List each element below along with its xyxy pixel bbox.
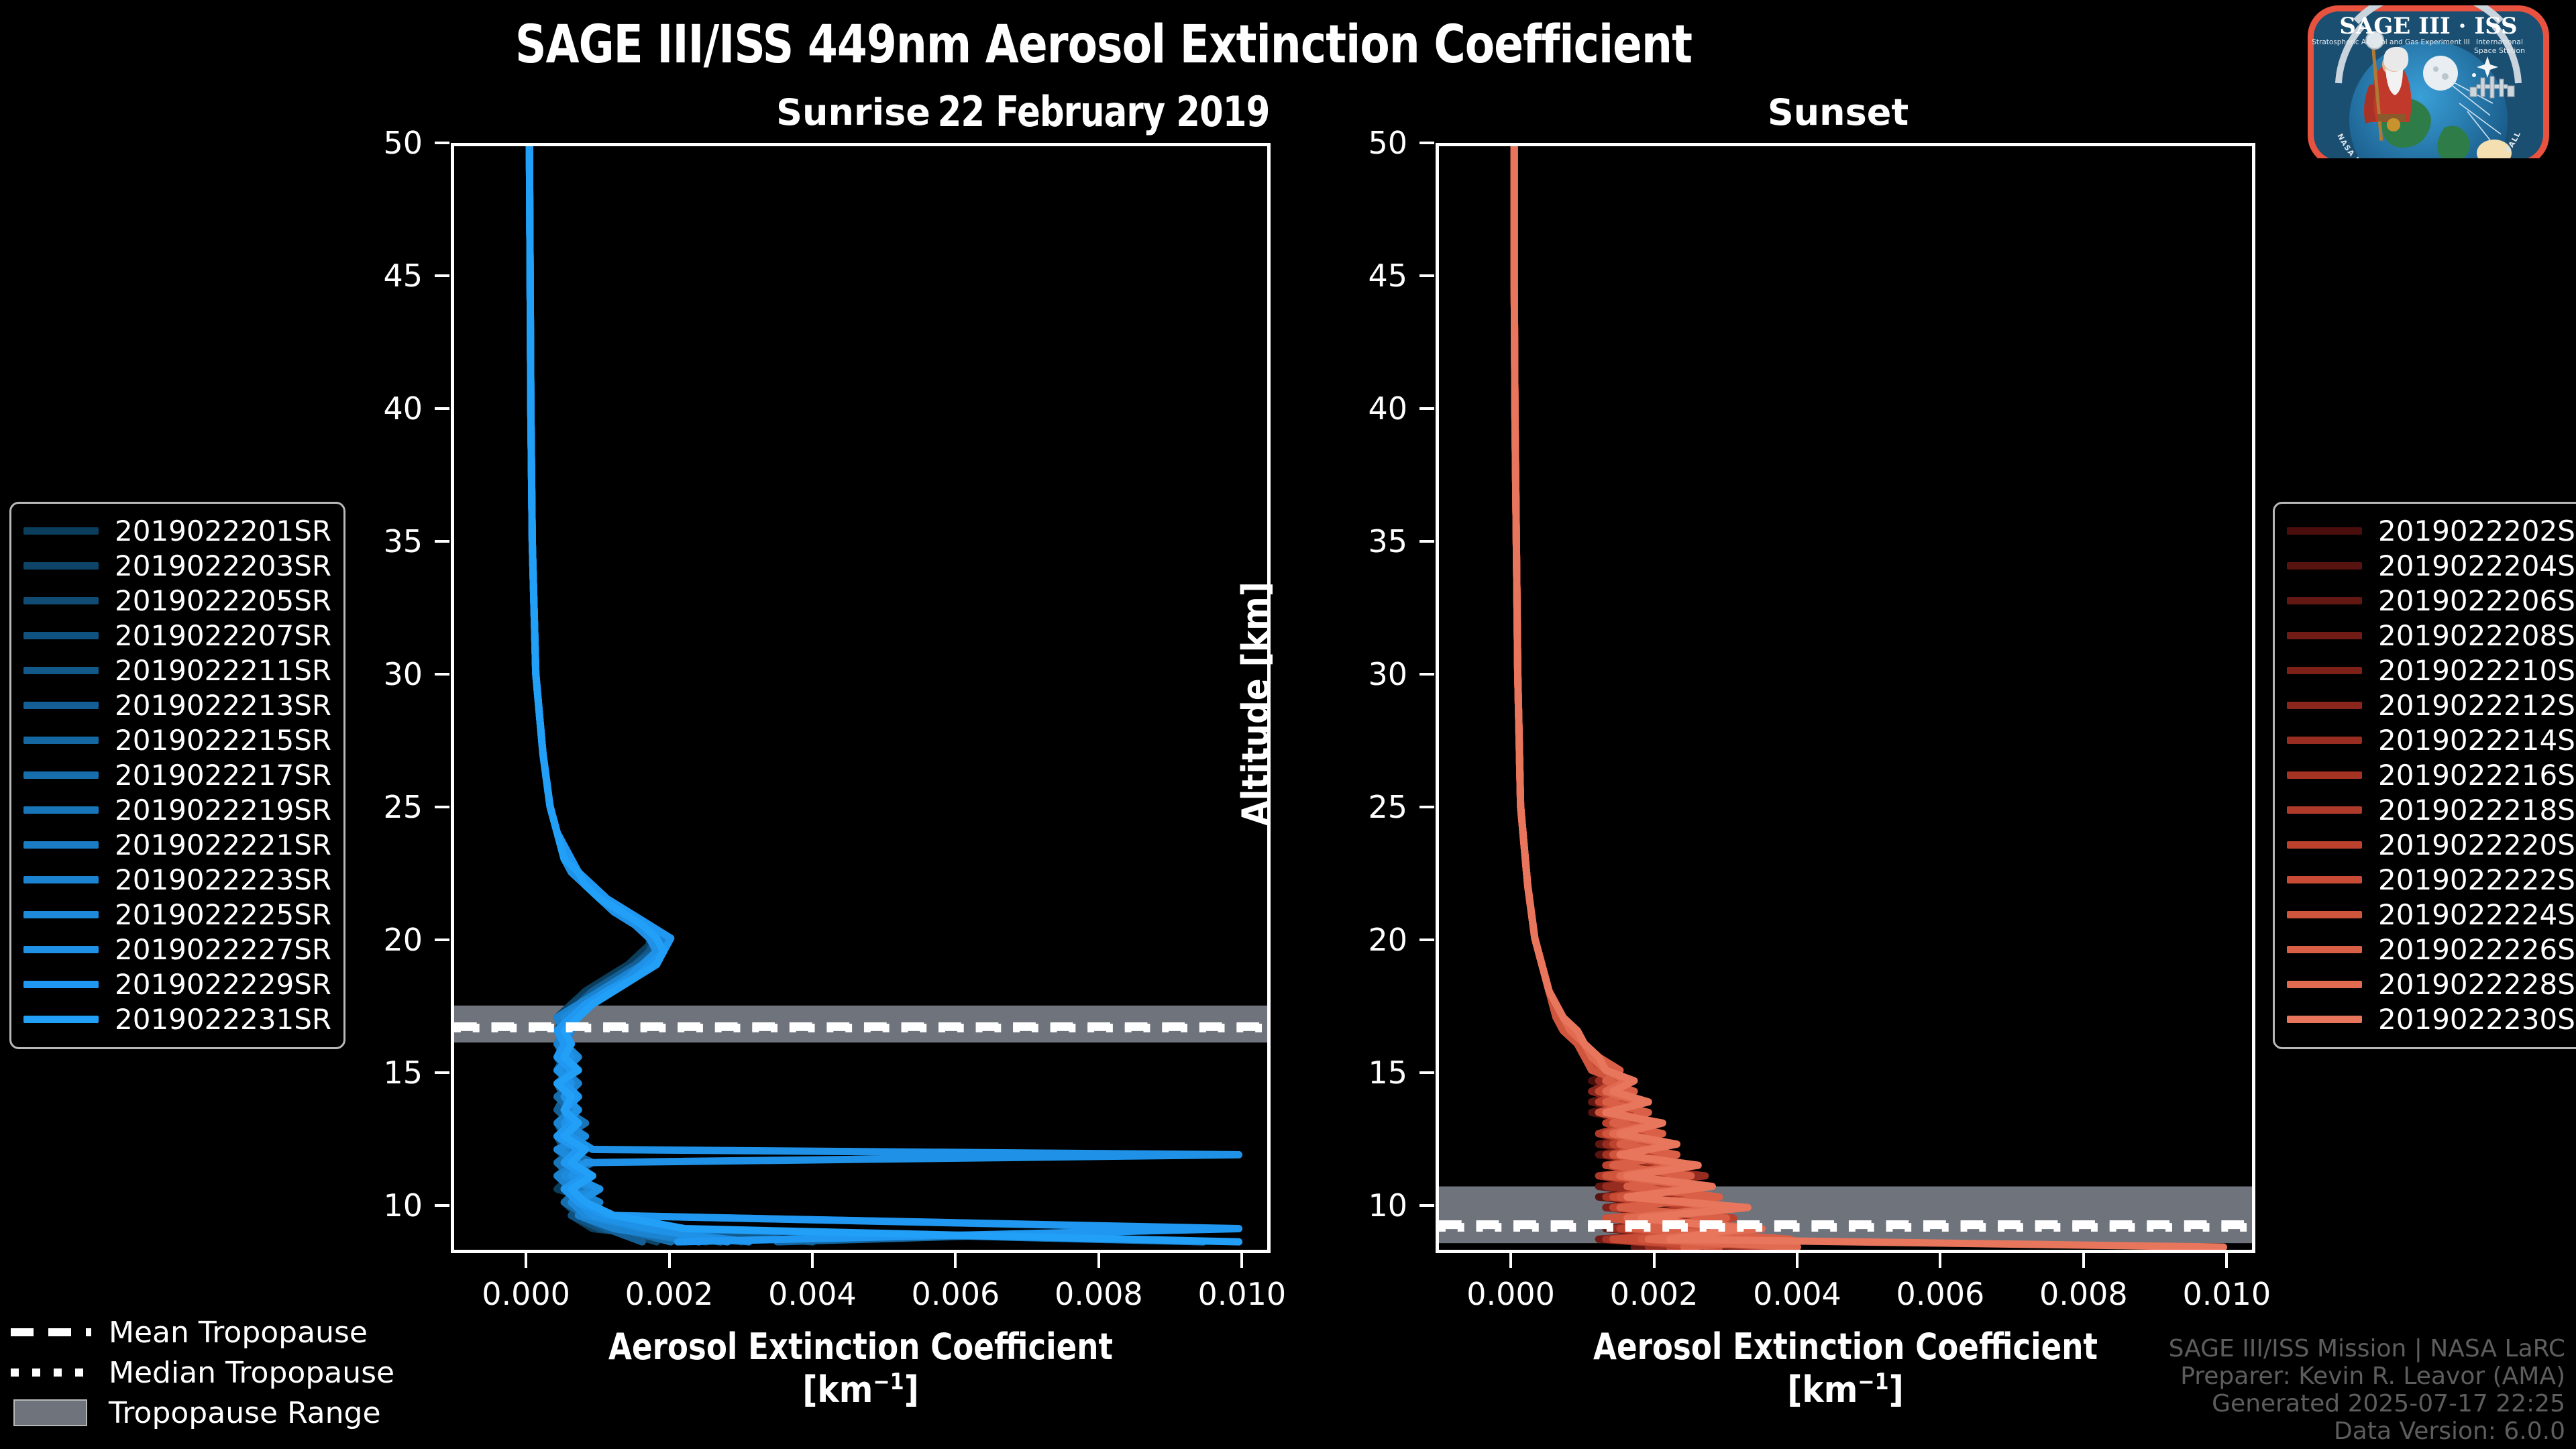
- profile-trace: [529, 146, 699, 1242]
- legend-item-label: 2019022224SS: [2378, 898, 2576, 931]
- tropopause-legend-label: Mean Tropopause: [109, 1316, 368, 1350]
- legend-item[interactable]: 2019022210SS: [2287, 653, 2576, 688]
- x-axis-tick: [1240, 1253, 1243, 1268]
- y-axis-tick: [435, 1204, 449, 1207]
- legend-color-swatch: [23, 946, 99, 953]
- legend-color-swatch: [23, 597, 99, 604]
- tropopause-range-swatch: [11, 1403, 91, 1423]
- legend-item[interactable]: 2019022223SR: [23, 862, 331, 897]
- y-axis-tick: [435, 540, 449, 543]
- legend-item-label: 2019022213SR: [115, 689, 331, 722]
- sunrise-profile-legend[interactable]: 2019022201SR2019022203SR2019022205SR2019…: [9, 502, 345, 1049]
- mission-patch-svg: NASA LANGLEY RESEARCH CENTER · ESA · BAL…: [2292, 3, 2565, 158]
- legend-color-swatch: [2287, 771, 2362, 779]
- legend-item-label: 2019022226SS: [2378, 933, 2576, 966]
- legend-item-label: 2019022206SS: [2378, 584, 2576, 617]
- y-axis-tick-label: 10: [275, 1187, 423, 1224]
- legend-item-label: 2019022231SR: [115, 1003, 331, 1036]
- legend-color-swatch: [23, 981, 99, 988]
- legend-color-swatch: [23, 806, 99, 814]
- legend-item[interactable]: 2019022213SR: [23, 688, 331, 722]
- x-axis-tick: [811, 1253, 814, 1268]
- legend-color-swatch: [23, 632, 99, 639]
- tropopause-legend-label: Tropopause Range: [109, 1396, 381, 1430]
- legend-color-swatch: [2287, 841, 2362, 849]
- profile-trace: [1514, 146, 1797, 1247]
- x-axis-tick: [1097, 1253, 1100, 1268]
- y-axis-tick-label: 45: [275, 258, 423, 294]
- x-axis-tick-label: 0.010: [1155, 1276, 1329, 1312]
- y-axis-tick-label: 50: [275, 125, 423, 161]
- y-axis-tick: [1419, 938, 1434, 941]
- credits-line: Generated 2025-07-17 22:25: [2169, 1390, 2565, 1417]
- credits-line: SAGE III/ISS Mission | NASA LaRC: [2169, 1335, 2565, 1362]
- y-axis-tick-label: 10: [1260, 1187, 1407, 1224]
- logo-title: SAGE III · ISS: [2339, 13, 2517, 40]
- legend-item-label: 2019022230SS: [2378, 1003, 2576, 1036]
- legend-item[interactable]: 2019022217SR: [23, 757, 331, 792]
- y-axis-tick: [1419, 673, 1434, 676]
- legend-item-label: 2019022217SR: [115, 759, 331, 792]
- profile-trace: [1514, 146, 1769, 1247]
- logo-subtitle-right-2: Space Station: [2474, 46, 2525, 55]
- legend-color-swatch: [23, 876, 99, 883]
- legend-color-swatch: [2287, 946, 2362, 953]
- legend-color-swatch: [2287, 702, 2362, 709]
- legend-item-label: 2019022216SS: [2378, 759, 2576, 792]
- legend-item[interactable]: 2019022230SS: [2287, 1002, 2576, 1036]
- sunset-plot-panel[interactable]: [1436, 143, 2255, 1253]
- marker-glyph: [11, 1328, 91, 1336]
- tropopause-legend: Mean TropopauseMedian TropopauseTropopau…: [11, 1312, 394, 1433]
- legend-item[interactable]: 2019022226SS: [2287, 932, 2576, 967]
- y-axis-tick: [1419, 407, 1434, 410]
- x-axis-units: [km−1]: [451, 1368, 1271, 1411]
- legend-item-label: 2019022214SS: [2378, 724, 2576, 757]
- x-axis-units: [km−1]: [1436, 1368, 2255, 1411]
- y-axis-tick-label: 15: [1260, 1055, 1407, 1091]
- profile-trace: [529, 146, 656, 1242]
- y-axis-tick: [1419, 1071, 1434, 1074]
- y-axis-tick-label: 45: [1260, 258, 1407, 294]
- x-axis-tick: [1653, 1253, 1656, 1268]
- y-axis-tick: [435, 407, 449, 410]
- x-axis-tick: [525, 1253, 527, 1268]
- credits-block: SAGE III/ISS Mission | NASA LaRCPreparer…: [2169, 1335, 2565, 1445]
- legend-color-swatch: [2287, 632, 2362, 639]
- tropopause-legend-item: Mean Tropopause: [11, 1312, 394, 1352]
- legend-item[interactable]: 2019022208SS: [2287, 618, 2576, 653]
- y-axis-tick: [435, 1071, 449, 1074]
- x-axis-tick: [1796, 1253, 1799, 1268]
- x-axis-tick: [954, 1253, 957, 1268]
- legend-item[interactable]: 2019022227SR: [23, 932, 331, 967]
- legend-item-label: 2019022227SR: [115, 933, 331, 966]
- legend-item-label: 2019022220SS: [2378, 828, 2576, 861]
- legend-color-swatch: [23, 1016, 99, 1023]
- credits-line: Preparer: Kevin R. Leavor (AMA): [2169, 1362, 2565, 1390]
- profile-trace: [1514, 146, 1783, 1247]
- x-axis-tick: [668, 1253, 671, 1268]
- legend-color-swatch: [2287, 562, 2362, 570]
- legend-item[interactable]: 2019022229SR: [23, 967, 331, 1002]
- y-axis-title: Altitude [km]: [1234, 582, 1277, 826]
- y-axis-tick: [1419, 1204, 1434, 1207]
- legend-item[interactable]: 2019022212SS: [2287, 688, 2576, 722]
- y-axis-tick-label: 15: [275, 1055, 423, 1091]
- legend-item[interactable]: 2019022215SR: [23, 722, 331, 757]
- y-axis-tick-label: 30: [1260, 656, 1407, 692]
- legend-item-label: 2019022210SS: [2378, 654, 2576, 687]
- profile-trace: [529, 146, 1238, 1242]
- legend-item-label: 2019022219SR: [115, 794, 331, 826]
- y-axis-tick-label: 20: [1260, 922, 1407, 958]
- mean-tropopause-marker: [11, 1322, 91, 1342]
- legend-item-label: 2019022204SS: [2378, 549, 2576, 582]
- sunrise-plot-canvas: [454, 146, 1267, 1250]
- profile-trace: [529, 146, 1203, 1242]
- tropopause-legend-label: Median Tropopause: [109, 1356, 394, 1390]
- legend-color-swatch: [23, 911, 99, 918]
- legend-item-label: 2019022203SR: [115, 549, 331, 582]
- y-axis-tick: [1419, 274, 1434, 277]
- profile-trace: [529, 146, 1238, 1242]
- profile-trace: [1514, 146, 1762, 1247]
- profile-trace: [529, 146, 671, 1242]
- tropopause-legend-item: Median Tropopause: [11, 1352, 394, 1393]
- legend-item-label: 2019022222SS: [2378, 863, 2576, 896]
- legend-color-swatch: [23, 527, 99, 535]
- y-axis-tick: [1419, 806, 1434, 808]
- legend-item-label: 2019022218SS: [2378, 794, 2576, 826]
- legend-item-label: 2019022225SR: [115, 898, 331, 931]
- legend-item-label: 2019022212SS: [2378, 689, 2576, 722]
- y-axis-tick-label: 40: [1260, 390, 1407, 427]
- legend-item-label: 2019022229SR: [115, 968, 331, 1001]
- page-title: SAGE III/ISS 449nm Aerosol Extinction Co…: [89, 15, 2119, 75]
- legend-item[interactable]: 2019022218SS: [2287, 792, 2576, 827]
- legend-color-swatch: [2287, 527, 2362, 535]
- profile-trace: [1514, 146, 1776, 1247]
- logo-subtitle-left: Stratospheric Aerosol and Gas Experiment…: [2312, 38, 2470, 46]
- sage-iii-iss-logo: NASA LANGLEY RESEARCH CENTER · ESA · BAL…: [2292, 3, 2565, 158]
- legend-color-swatch: [2287, 737, 2362, 744]
- legend-item[interactable]: 2019022201SR: [23, 513, 331, 548]
- profile-trace: [529, 146, 720, 1242]
- legend-item-label: 2019022208SS: [2378, 619, 2576, 652]
- legend-color-swatch: [23, 702, 99, 709]
- legend-item-label: 2019022228SS: [2378, 968, 2576, 1001]
- legend-item[interactable]: 2019022221SR: [23, 827, 331, 862]
- legend-color-swatch: [23, 841, 99, 849]
- legend-color-swatch: [23, 562, 99, 570]
- y-axis-tick: [435, 274, 449, 277]
- legend-item-label: 2019022215SR: [115, 724, 331, 757]
- legend-item[interactable]: 2019022204SS: [2287, 548, 2576, 583]
- y-axis-tick-label: 40: [275, 390, 423, 427]
- x-axis-title: Aerosol Extinction Coefficient: [1464, 1326, 2226, 1368]
- legend-item[interactable]: 2019022205SR: [23, 583, 331, 618]
- y-axis-tick: [1419, 540, 1434, 543]
- marker-glyph: [13, 1399, 87, 1426]
- legend-item[interactable]: 2019022228SS: [2287, 967, 2576, 1002]
- legend-color-swatch: [2287, 876, 2362, 883]
- y-axis-tick-label: 35: [1260, 523, 1407, 559]
- sunrise-panel-label: Sunrise: [652, 91, 1055, 133]
- sunset-profile-legend[interactable]: 2019022202SS2019022204SS2019022206SS2019…: [2273, 502, 2576, 1049]
- x-axis-tick: [2082, 1253, 2085, 1268]
- legend-item[interactable]: 2019022207SR: [23, 618, 331, 653]
- x-axis-tick: [1939, 1253, 1941, 1268]
- profile-trace: [529, 146, 1218, 1242]
- x-axis-title: Aerosol Extinction Coefficient: [480, 1326, 1242, 1368]
- median-tropopause-marker: [11, 1362, 91, 1383]
- x-axis-tick: [1509, 1253, 1512, 1268]
- y-axis-tick-label: 50: [1260, 125, 1407, 161]
- legend-item-label: 2019022205SR: [115, 584, 331, 617]
- legend-item[interactable]: 2019022222SS: [2287, 862, 2576, 897]
- legend-color-swatch: [2287, 911, 2362, 918]
- tropopause-range-band: [1439, 1187, 2252, 1244]
- y-axis-tick: [435, 673, 449, 676]
- legend-item[interactable]: 2019022203SR: [23, 548, 331, 583]
- legend-item[interactable]: 2019022231SR: [23, 1002, 331, 1036]
- legend-item-label: 2019022223SR: [115, 863, 331, 896]
- marker-glyph: [11, 1368, 91, 1377]
- y-axis-tick: [435, 938, 449, 941]
- legend-item-label: 2019022202SS: [2378, 515, 2576, 547]
- legend-item-label: 2019022207SR: [115, 619, 331, 652]
- profile-trace: [1514, 146, 1790, 1247]
- legend-color-swatch: [23, 771, 99, 779]
- y-axis-tick: [435, 806, 449, 808]
- legend-item[interactable]: 2019022225SR: [23, 897, 331, 932]
- legend-color-swatch: [2287, 597, 2362, 604]
- profile-trace: [529, 146, 685, 1242]
- legend-item[interactable]: 2019022220SS: [2287, 827, 2576, 862]
- legend-color-swatch: [2287, 1016, 2362, 1023]
- legend-item[interactable]: 2019022224SS: [2287, 897, 2576, 932]
- legend-color-swatch: [2287, 667, 2362, 674]
- sunset-panel-label: Sunset: [1637, 91, 2039, 133]
- legend-item-label: 2019022221SR: [115, 828, 331, 861]
- x-axis-tick-label: 0.010: [2139, 1276, 2314, 1312]
- x-axis-tick: [2225, 1253, 2228, 1268]
- logo-subtitle-right-1: International: [2476, 38, 2523, 46]
- y-axis-tick: [1419, 142, 1434, 144]
- legend-item[interactable]: 2019022202SS: [2287, 513, 2576, 548]
- legend-item[interactable]: 2019022219SR: [23, 792, 331, 827]
- credits-line: Data Version: 6.0.0: [2169, 1417, 2565, 1445]
- tropopause-legend-item: Tropopause Range: [11, 1393, 394, 1433]
- legend-item[interactable]: 2019022214SS: [2287, 722, 2576, 757]
- legend-color-swatch: [23, 737, 99, 744]
- legend-item-label: 2019022211SR: [115, 654, 331, 687]
- y-axis-tick: [435, 142, 449, 144]
- legend-color-swatch: [2287, 981, 2362, 988]
- y-axis-tick-label: 25: [1260, 789, 1407, 825]
- profile-trace: [529, 146, 671, 1242]
- sunset-plot-canvas: [1439, 146, 2252, 1250]
- legend-color-swatch: [23, 667, 99, 674]
- legend-item[interactable]: 2019022211SR: [23, 653, 331, 688]
- legend-item[interactable]: 2019022206SS: [2287, 583, 2576, 618]
- legend-item[interactable]: 2019022216SS: [2287, 757, 2576, 792]
- legend-color-swatch: [2287, 806, 2362, 814]
- profile-trace: [529, 146, 1238, 1242]
- legend-item-label: 2019022201SR: [115, 515, 331, 547]
- profile-trace: [529, 146, 706, 1242]
- sunrise-plot-panel[interactable]: [451, 143, 1271, 1253]
